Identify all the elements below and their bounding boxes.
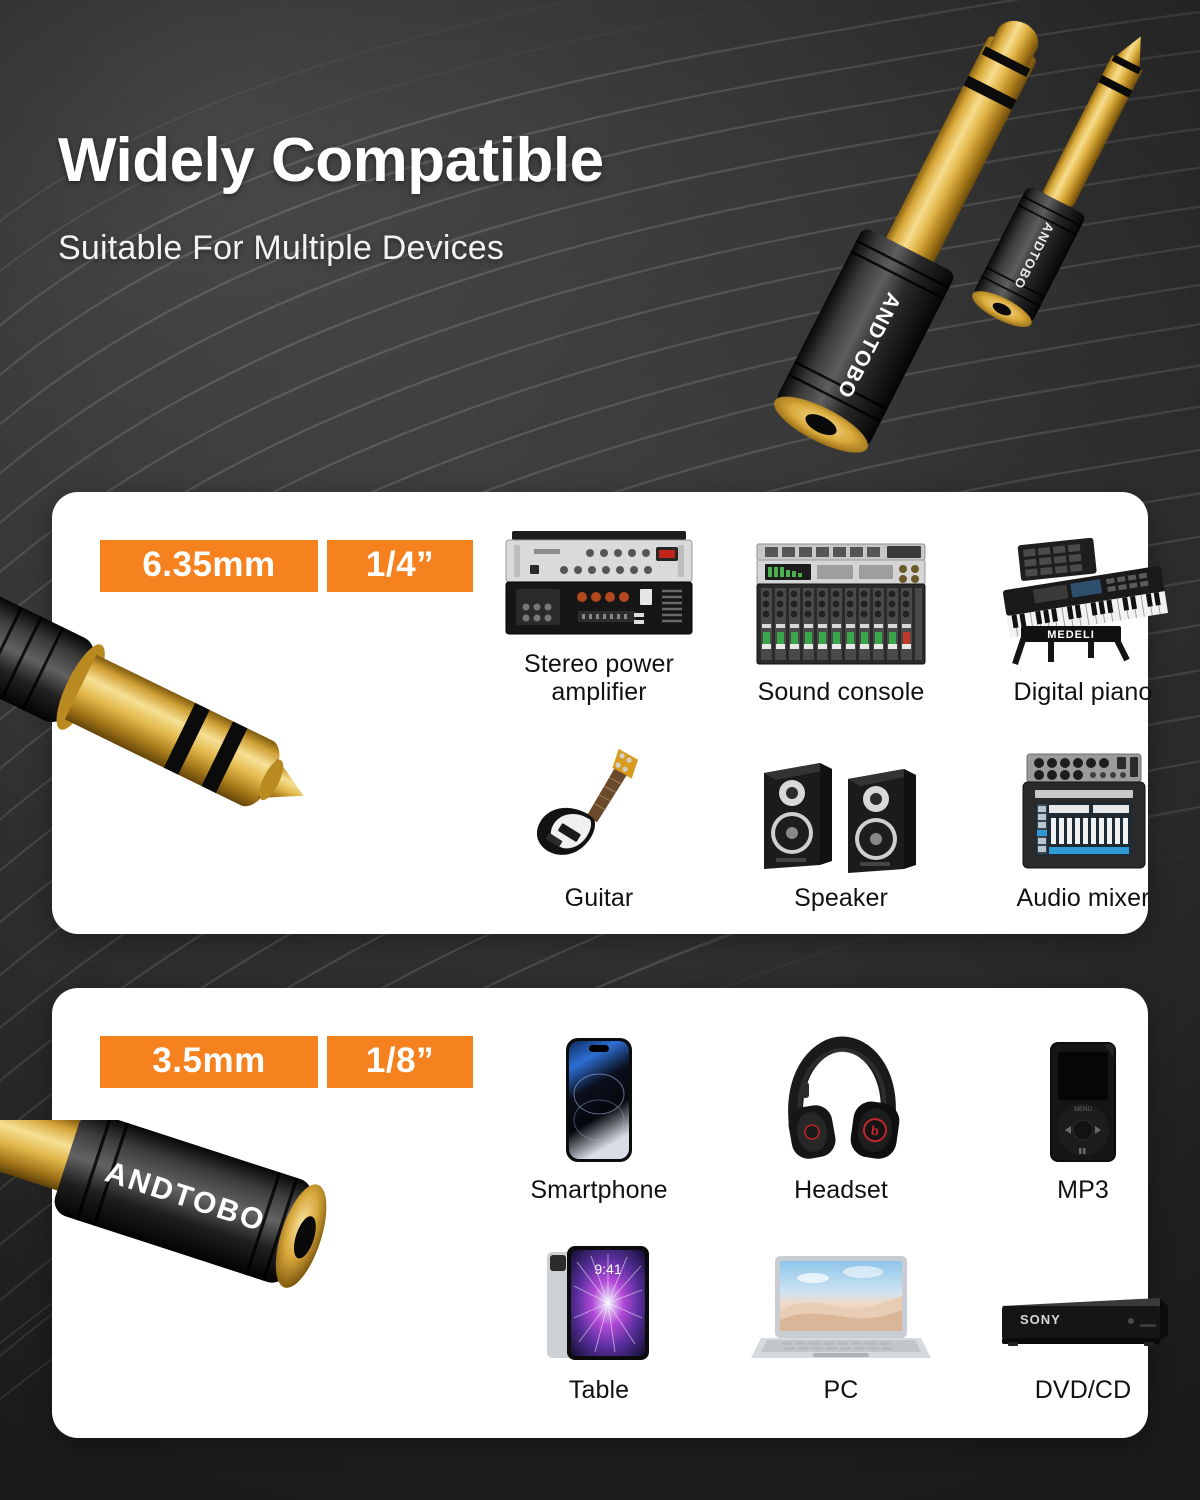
device-item: 9:41 Table — [484, 1204, 714, 1404]
dvd-brand-text: SONY — [1020, 1312, 1061, 1327]
device-label: Sound console — [758, 678, 925, 706]
device-item: Stereo power amplifier — [484, 506, 714, 706]
guitar-icon — [484, 742, 714, 874]
piano-brand-text: MEDELI — [1047, 629, 1095, 641]
amplifier-icon — [484, 509, 714, 641]
device-item: MENU MP3 — [968, 1008, 1198, 1204]
device-item: Sound console — [726, 506, 956, 706]
device-item: Audio mixer — [968, 706, 1198, 912]
device-label: PC — [824, 1376, 859, 1404]
device-item: Speaker — [726, 706, 956, 912]
headset-icon: b — [726, 1034, 956, 1166]
audio-mixer-icon — [968, 742, 1198, 874]
device-item: PC — [726, 1204, 956, 1404]
device-item: b Headset — [726, 1008, 956, 1204]
badge-millimeter: 3.5mm — [100, 1036, 318, 1088]
device-label: Table — [569, 1376, 629, 1404]
device-item: SONY DVD/CD — [968, 1204, 1198, 1404]
speaker-icon — [726, 742, 956, 874]
device-item: MEDELI Digital piano — [968, 506, 1198, 706]
device-label: Speaker — [794, 884, 888, 912]
badge-group-3-5mm: 3.5mm 1/8” — [100, 1036, 473, 1088]
device-grid-3-5mm: Smartphone — [484, 1008, 1198, 1404]
device-label: Digital piano — [1014, 678, 1153, 706]
badge-inch: 1/8” — [327, 1036, 473, 1088]
dvd-player-icon: SONY — [968, 1234, 1198, 1366]
plug-6-35mm-image — [0, 572, 406, 912]
device-label: Audio mixer — [1016, 884, 1149, 912]
device-item: Guitar — [484, 706, 714, 912]
device-label: DVD/CD — [1035, 1376, 1131, 1404]
device-label: Headset — [794, 1176, 888, 1204]
digital-piano-icon: MEDELI — [968, 536, 1198, 668]
mp3-player-icon: MENU — [968, 1034, 1198, 1166]
tablet-icon: 9:41 — [484, 1234, 714, 1366]
device-grid-6-35mm: Stereo power amplifier — [484, 506, 1198, 912]
device-label: Guitar — [565, 884, 634, 912]
svg-text:MENU: MENU — [1074, 1107, 1092, 1113]
jack-3-5mm-image: ANDTOBO — [0, 1120, 406, 1420]
product-infographic: Widely Compatible Suitable For Multiple … — [0, 0, 1200, 1500]
laptop-icon — [726, 1234, 956, 1366]
hero-adapters-image: ANDTOBO ANDTOBO — [760, 0, 1200, 470]
smartphone-icon — [484, 1034, 714, 1166]
tablet-screen-time: 9:41 — [594, 1261, 621, 1277]
device-label: Smartphone — [530, 1176, 667, 1204]
sound-console-icon — [726, 536, 956, 668]
device-label: Stereo power amplifier — [484, 651, 714, 706]
device-label: MP3 — [1057, 1176, 1109, 1204]
header: Widely Compatible Suitable For Multiple … — [58, 128, 818, 268]
page-title: Widely Compatible — [58, 128, 818, 193]
device-item: Smartphone — [484, 1008, 714, 1204]
page-subtitle: Suitable For Multiple Devices — [58, 229, 818, 268]
